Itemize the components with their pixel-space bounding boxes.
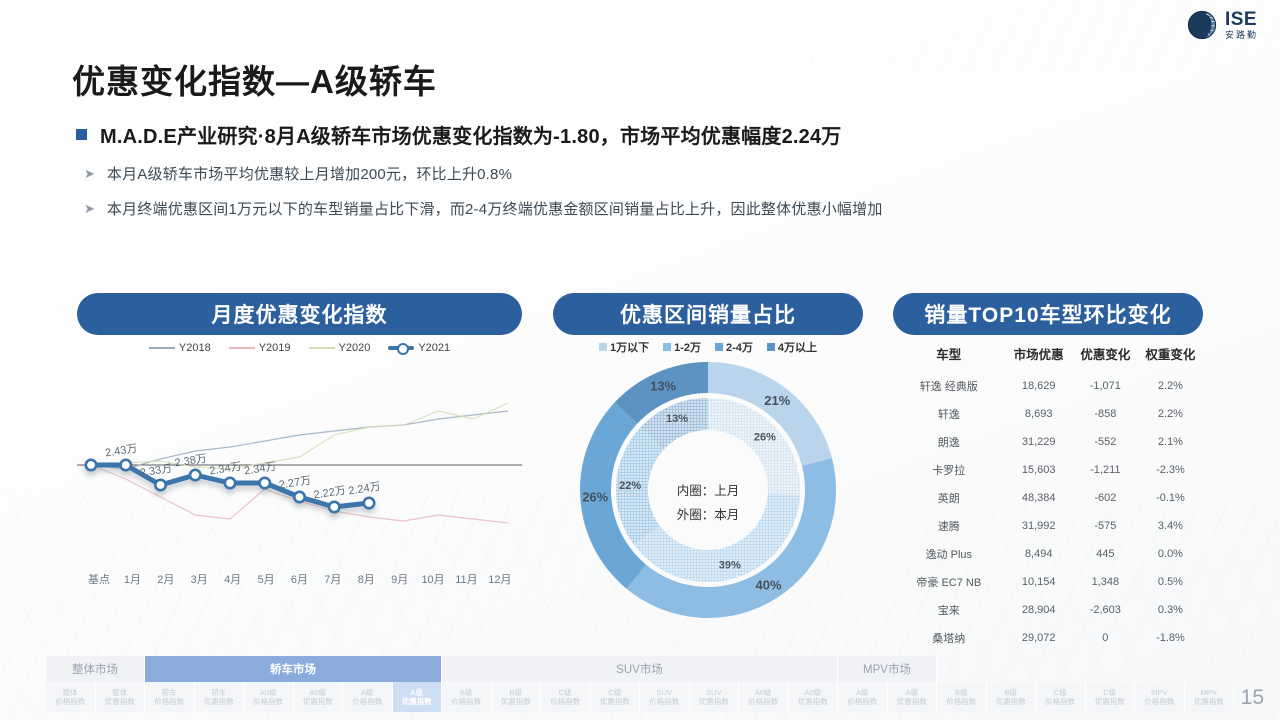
cell-change: 0: [1073, 624, 1138, 652]
nav-tab-label-line2: 优惠指数: [996, 697, 1026, 706]
nav-tab-2[interactable]: 轿车价格指数: [145, 682, 195, 712]
page-number: 15: [1241, 686, 1264, 710]
cell-model: 英朗: [893, 484, 1005, 512]
cell-discount: 18,629: [1005, 372, 1073, 400]
table-header-row: 车型 市场优惠 优惠变化 权重变化: [893, 340, 1203, 372]
legend-label: Y2020: [339, 342, 371, 354]
page-title: 优惠变化指数—A级轿车: [72, 55, 437, 103]
nav-tab-4[interactable]: A0级价格指数: [244, 682, 294, 712]
donut-legend-item[interactable]: 1-2万: [663, 339, 701, 355]
bullet-square-icon: [76, 129, 87, 140]
nav-tab-label-line2: 价格指数: [55, 697, 85, 706]
nav-tab-11[interactable]: C级优惠指数: [591, 682, 641, 712]
panel-header-table: 销量TOP10车型环比变化: [893, 293, 1203, 335]
nav-tab-label-line1: 轿车: [211, 688, 226, 697]
x-axis-tick-label: 4月: [217, 571, 249, 587]
nav-tab-label-line1: A0级: [260, 688, 277, 697]
nav-tab-label-line1: A级: [856, 688, 869, 697]
legend-label: 1万以下: [610, 339, 649, 355]
cell-discount: 8,494: [1005, 540, 1073, 568]
nav-tab-18[interactable]: B级价格指数: [937, 682, 987, 712]
legend-label: Y2018: [179, 342, 211, 354]
cell-weight: 2.1%: [1138, 428, 1203, 456]
nav-tab-13[interactable]: SUV优惠指数: [690, 682, 740, 712]
nav-tab-6[interactable]: A级价格指数: [343, 682, 393, 712]
nav-tab-22[interactable]: MPV价格指数: [1135, 682, 1185, 712]
nav-tab-label-line2: 价格指数: [451, 697, 481, 706]
nav-tab-label-line1: A0级: [755, 688, 772, 697]
line-chart-panel: Y2018Y2019Y2020Y2021 2.43万2.33万2.38万2.34…: [77, 335, 522, 620]
nav-tab-label-line1: SUV: [657, 688, 672, 697]
sub-bullet-2: ➤ 本月终端优惠区间1万元以下的车型销量占比下滑，而2-4万终端优惠金额区间销量…: [84, 198, 883, 219]
legend-swatch-icon: [149, 347, 175, 349]
x-axis-tick-label: 7月: [317, 571, 349, 587]
cell-discount: 8,693: [1005, 400, 1073, 428]
nav-tab-14[interactable]: A0级价格指数: [739, 682, 789, 712]
x-axis-tick-label: 11月: [450, 571, 482, 587]
donut-legend-item[interactable]: 2-4万: [715, 339, 753, 355]
panel-header-donut-chart: 优惠区间销量占比: [553, 293, 863, 335]
nav-tab-label-line2: 价格指数: [946, 697, 976, 706]
nav-tab-3[interactable]: 轿车优惠指数: [195, 682, 245, 712]
nav-tab-label-line2: 优惠指数: [105, 697, 135, 706]
nav-tab-label-line2: 价格指数: [1144, 697, 1174, 706]
legend-swatch-icon: [599, 343, 607, 351]
table-header-model: 车型: [893, 340, 1005, 372]
cell-model: 轩逸: [893, 400, 1005, 428]
cell-weight: 0.3%: [1138, 596, 1203, 624]
x-axis-tick-label: 8月: [350, 571, 382, 587]
nav-group-SUV市场[interactable]: SUV市场: [442, 656, 838, 682]
donut-legend-item[interactable]: 1万以下: [599, 339, 649, 355]
nav-tab-label-line1: 轿车: [162, 688, 177, 697]
nav-tab-label-line2: 优惠指数: [402, 697, 432, 706]
donut-slice-label: 26%: [754, 431, 776, 443]
cell-model: 逸动 Plus: [893, 540, 1005, 568]
table-row: 桑塔纳29,0720-1.8%: [893, 624, 1203, 652]
donut-chart-panel: 1万以下1-2万2-4万4万以上 26%39%22%13%21%40%26%13…: [553, 335, 863, 625]
line-data-label: 2.43万: [104, 443, 138, 460]
x-axis-tick-label: 3月: [183, 571, 215, 587]
nav-group-MPV市场[interactable]: MPV市场: [838, 656, 937, 682]
cell-weight: 0.5%: [1138, 568, 1203, 596]
cell-change: 445: [1073, 540, 1138, 568]
legend-label: Y2019: [259, 342, 291, 354]
bottom-navigation[interactable]: 整体市场轿车市场SUV市场MPV市场 整体价格指数整体优惠指数轿车价格指数轿车优…: [46, 656, 1234, 712]
nav-tab-row[interactable]: 整体价格指数整体优惠指数轿车价格指数轿车优惠指数A0级价格指数A0级优惠指数A级…: [46, 682, 1234, 712]
nav-tab-5[interactable]: A0级优惠指数: [294, 682, 344, 712]
nav-tab-label-line2: 优惠指数: [1194, 697, 1224, 706]
donut-chart-legend: 1万以下1-2万2-4万4万以上: [553, 335, 863, 359]
nav-tab-label-line2: 价格指数: [1045, 697, 1075, 706]
sub-bullet-1: ➤ 本月A级轿车市场平均优惠较上月增加200元，环比上升0.8%: [84, 163, 512, 184]
nav-tab-label-line2: 优惠指数: [303, 697, 333, 706]
legend-label: Y2021: [418, 342, 450, 354]
cell-weight: -2.3%: [1138, 456, 1203, 484]
nav-tab-label-line2: 优惠指数: [798, 697, 828, 706]
nav-tab-label-line1: A级: [361, 688, 374, 697]
nav-group-row[interactable]: 整体市场轿车市场SUV市场MPV市场: [46, 656, 1234, 682]
cell-model: 帝豪 EC7 NB: [893, 568, 1005, 596]
nav-group-整体市场[interactable]: 整体市场: [46, 656, 145, 682]
donut-slice-label: 13%: [650, 379, 676, 394]
nav-tab-label-line1: 整体: [112, 688, 127, 697]
legend-item-y2019[interactable]: Y2019: [229, 342, 291, 354]
x-axis-tick-label: 1月: [116, 571, 148, 587]
table-row: 逸动 Plus8,4944450.0%: [893, 540, 1203, 568]
line-data-label: 2.34万: [243, 461, 277, 478]
nav-tab-label-line1: A0级: [309, 688, 326, 697]
nav-tab-label-line2: 价格指数: [352, 697, 382, 706]
sub-bullet-text-1: 本月A级轿车市场平均优惠较上月增加200元，环比上升0.8%: [107, 163, 512, 184]
legend-label: 1-2万: [674, 339, 701, 355]
donut-slice-label: 39%: [719, 560, 741, 572]
x-axis-tick-label: 10月: [417, 571, 449, 587]
table-header-discount: 市场优惠: [1005, 340, 1073, 372]
main-bullet: M.A.D.E产业研究·8月A级轿车市场优惠变化指数为-1.80，市场平均优惠幅…: [76, 120, 842, 149]
cell-model: 朗逸: [893, 428, 1005, 456]
donut-chart-svg: 26%39%22%13%21%40%26%13%: [553, 359, 863, 621]
nav-tab-19[interactable]: B级优惠指数: [987, 682, 1037, 712]
donut-slice-label: 26%: [582, 489, 608, 504]
nav-tab-7[interactable]: A级优惠指数: [393, 682, 443, 712]
logo-text-en: ISE: [1225, 10, 1258, 29]
table-row: 轩逸8,693-8582.2%: [893, 400, 1203, 428]
cell-change: -2,603: [1073, 596, 1138, 624]
donut-slice-label: 13%: [666, 413, 688, 425]
x-axis-tick-label: 9月: [384, 571, 416, 587]
slide: ISE 安路勤 优惠变化指数—A级轿车 M.A.D.E产业研究·8月A级轿车市场…: [0, 0, 1280, 720]
legend-swatch-icon: [229, 347, 255, 349]
nav-tab-0[interactable]: 整体价格指数: [46, 682, 96, 712]
table-row: 帝豪 EC7 NB10,1541,3480.5%: [893, 568, 1203, 596]
nav-tab-label-line1: C级: [1054, 688, 1067, 697]
donut-slice-label: 22%: [619, 480, 641, 492]
table-row: 轩逸 经典版18,629-1,0712.2%: [893, 372, 1203, 400]
line-chart-svg: 2.43万2.33万2.38万2.34万2.34万2.27万2.22万2.24万: [77, 361, 522, 571]
cell-weight: 2.2%: [1138, 372, 1203, 400]
cell-model: 速腾: [893, 512, 1005, 540]
globe-icon: [1185, 8, 1219, 42]
nav-tab-label-line2: 价格指数: [154, 697, 184, 706]
arrow-right-icon: ➤: [84, 202, 95, 215]
nav-tab-12[interactable]: SUV价格指数: [640, 682, 690, 712]
x-axis-tick-label: 5月: [250, 571, 282, 587]
table-body: 轩逸 经典版18,629-1,0712.2%轩逸8,693-8582.2%朗逸3…: [893, 372, 1203, 652]
nav-tab-label-line2: 优惠指数: [699, 697, 729, 706]
legend-swatch-icon: [309, 347, 335, 349]
line-data-label: 2.22万: [313, 485, 347, 502]
nav-tab-label-line1: SUV: [706, 688, 721, 697]
line-chart-x-axis: 基点1月2月3月4月5月6月7月8月9月10月11月12月: [83, 571, 516, 587]
nav-tab-9[interactable]: B级优惠指数: [492, 682, 542, 712]
cell-discount: 29,072: [1005, 624, 1073, 652]
cell-change: -858: [1073, 400, 1138, 428]
cell-weight: 2.2%: [1138, 400, 1203, 428]
donut-slice-label: 21%: [764, 393, 790, 408]
table-row: 卡罗拉15,603-1,211-2.3%: [893, 456, 1203, 484]
nav-tab-label-line1: 整体: [63, 688, 78, 697]
x-axis-tick-label: 12月: [484, 571, 516, 587]
cell-model: 宝来: [893, 596, 1005, 624]
cell-change: -1,071: [1073, 372, 1138, 400]
table-row: 英朗48,384-602-0.1%: [893, 484, 1203, 512]
table-row: 速腾31,992-5753.4%: [893, 512, 1203, 540]
cell-weight: 0.0%: [1138, 540, 1203, 568]
legend-label: 2-4万: [726, 339, 753, 355]
cell-change: 1,348: [1073, 568, 1138, 596]
nav-tab-label-line2: 价格指数: [748, 697, 778, 706]
legend-label: 4万以上: [778, 339, 817, 355]
cell-discount: 31,992: [1005, 512, 1073, 540]
panel-header-line-chart: 月度优惠变化指数: [77, 293, 522, 335]
nav-tab-label-line1: B级: [460, 688, 473, 697]
cell-change: -1,211: [1073, 456, 1138, 484]
donut-legend-item[interactable]: 4万以上: [767, 339, 817, 355]
cell-model: 轩逸 经典版: [893, 372, 1005, 400]
table-row: 宝来28,904-2,6030.3%: [893, 596, 1203, 624]
nav-tab-label-line1: B级: [955, 688, 968, 697]
nav-tab-label-line1: MPV: [1201, 688, 1217, 697]
table-row: 朗逸31,229-5522.1%: [893, 428, 1203, 456]
nav-group-轿车市场[interactable]: 轿车市场: [145, 656, 442, 682]
line-data-label: 2.34万: [209, 461, 243, 478]
cell-discount: 31,229: [1005, 428, 1073, 456]
nav-tab-label-line1: C级: [1103, 688, 1116, 697]
table-header-change: 优惠变化: [1073, 340, 1138, 372]
legend-item-y2018[interactable]: Y2018: [149, 342, 211, 354]
cell-discount: 48,384: [1005, 484, 1073, 512]
legend-item-y2021[interactable]: Y2021: [388, 342, 450, 354]
legend-swatch-icon: [715, 343, 723, 351]
nav-tab-10[interactable]: C级价格指数: [541, 682, 591, 712]
nav-tab-17[interactable]: A级优惠指数: [888, 682, 938, 712]
cell-discount: 15,603: [1005, 456, 1073, 484]
nav-tab-label-line2: 价格指数: [649, 697, 679, 706]
company-logo: ISE 安路勤: [1185, 8, 1258, 42]
top10-table: 车型 市场优惠 优惠变化 权重变化 轩逸 经典版18,629-1,0712.2%…: [893, 340, 1203, 652]
nav-tab-8[interactable]: B级价格指数: [442, 682, 492, 712]
nav-tab-label-line2: 价格指数: [550, 697, 580, 706]
line-data-label: 2.24万: [348, 481, 382, 498]
nav-tab-16[interactable]: A级价格指数: [838, 682, 888, 712]
top10-table-panel: 车型 市场优惠 优惠变化 权重变化 轩逸 经典版18,629-1,0712.2%…: [893, 340, 1203, 652]
legend-swatch-icon: [767, 343, 775, 351]
x-axis-tick-label: 2月: [150, 571, 182, 587]
cell-weight: -0.1%: [1138, 484, 1203, 512]
legend-swatch-icon: [388, 346, 414, 350]
nav-tab-label-line1: C级: [559, 688, 572, 697]
table-header-weight: 权重变化: [1138, 340, 1203, 372]
nav-tab-label-line2: 价格指数: [253, 697, 283, 706]
nav-tab-label-line2: 优惠指数: [897, 697, 927, 706]
nav-tab-15[interactable]: A0级优惠指数: [789, 682, 839, 712]
cell-weight: -1.8%: [1138, 624, 1203, 652]
nav-tab-label-line1: A级: [905, 688, 918, 697]
nav-tab-label-line2: 优惠指数: [1095, 697, 1125, 706]
nav-tab-1[interactable]: 整体优惠指数: [96, 682, 146, 712]
arrow-right-icon: ➤: [84, 167, 95, 180]
logo-text-cn: 安路勤: [1225, 31, 1258, 40]
main-bullet-text: M.A.D.E产业研究·8月A级轿车市场优惠变化指数为-1.80，市场平均优惠幅…: [100, 120, 842, 149]
cell-change: -575: [1073, 512, 1138, 540]
cell-discount: 28,904: [1005, 596, 1073, 624]
x-axis-tick-label: 基点: [83, 571, 115, 587]
sub-bullet-text-2: 本月终端优惠区间1万元以下的车型销量占比下滑，而2-4万终端优惠金额区间销量占比…: [107, 198, 883, 219]
line-chart-legend: Y2018Y2019Y2020Y2021: [77, 335, 522, 361]
legend-item-y2020[interactable]: Y2020: [309, 342, 371, 354]
cell-discount: 10,154: [1005, 568, 1073, 596]
nav-tab-label-line1: MPV: [1151, 688, 1167, 697]
cell-model: 桑塔纳: [893, 624, 1005, 652]
nav-tab-label-line2: 价格指数: [847, 697, 877, 706]
cell-change: -602: [1073, 484, 1138, 512]
cell-model: 卡罗拉: [893, 456, 1005, 484]
donut-slice-label: 40%: [756, 578, 782, 593]
line-data-label: 2.27万: [278, 475, 312, 492]
nav-tab-23[interactable]: MPV优惠指数: [1185, 682, 1235, 712]
x-axis-tick-label: 6月: [283, 571, 315, 587]
nav-tab-label-line2: 优惠指数: [600, 697, 630, 706]
nav-tab-label-line1: A0级: [804, 688, 821, 697]
nav-tab-label-line1: A级: [410, 688, 423, 697]
legend-swatch-icon: [663, 343, 671, 351]
cell-change: -552: [1073, 428, 1138, 456]
nav-tab-21[interactable]: C级优惠指数: [1086, 682, 1136, 712]
nav-tab-label-line2: 优惠指数: [204, 697, 234, 706]
nav-tab-label-line2: 优惠指数: [501, 697, 531, 706]
nav-tab-label-line1: B级: [509, 688, 522, 697]
nav-tab-label-line1: C级: [608, 688, 621, 697]
nav-tab-20[interactable]: C级价格指数: [1036, 682, 1086, 712]
nav-tab-label-line1: B级: [1004, 688, 1017, 697]
cell-weight: 3.4%: [1138, 512, 1203, 540]
